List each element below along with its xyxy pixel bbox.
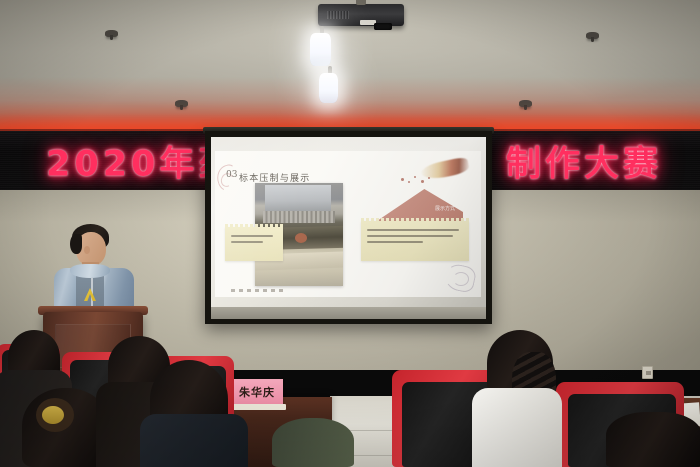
presentation-slide: 03 标本压制与展示 展示方式 [215, 151, 481, 297]
photo-window [265, 185, 331, 211]
audience-member [272, 418, 354, 467]
slide-note-right-text [367, 229, 463, 247]
hair-tie [42, 406, 64, 424]
projection-screen-surface: 03 标本压制与展示 展示方式 [211, 137, 486, 307]
decorative-swirl-icon [453, 272, 469, 286]
decorative-dots-icon [401, 175, 435, 185]
slide-note-right [361, 221, 469, 261]
wall-power-outlet [642, 366, 653, 379]
projection-screen-frame: 03 标本压制与展示 展示方式 [205, 131, 492, 324]
name-placard-base [228, 404, 286, 410]
name-placard: 朱华庆 [231, 379, 283, 405]
presenter-hair-side [70, 234, 82, 254]
sprinkler-icon [586, 32, 599, 39]
sprinkler-icon [175, 100, 188, 107]
slide-footer-marks [231, 289, 287, 292]
slide-note-left-text [231, 235, 277, 247]
ceiling-lamp [310, 33, 331, 66]
audience-member [606, 412, 700, 467]
led-banner-text-right: 制作大赛 [506, 135, 662, 186]
sprinkler-icon [519, 100, 532, 107]
presenter [46, 222, 142, 317]
presenter-hood [70, 264, 110, 278]
name-placard-text: 朱华庆 [239, 384, 275, 400]
audience-member-body [472, 388, 562, 467]
slide-section-number: 03 [226, 170, 237, 180]
photo-detail [295, 233, 307, 243]
slide-shape-label: 展示方式 [435, 205, 455, 212]
ceiling-projector [318, 4, 404, 26]
projector-vent [327, 11, 349, 19]
ceiling-lamp [319, 73, 338, 103]
sprinkler-icon [105, 30, 118, 37]
projector-lens-icon [374, 23, 392, 30]
presenter-ear [84, 246, 90, 254]
audience-member-body [140, 414, 248, 467]
lecture-hall-photo: 2020年药 制作大赛 03 标本压制与展示 [0, 0, 700, 467]
slide-note-left [225, 227, 283, 261]
photo-radiator [263, 211, 335, 223]
screen-lower-shadow [211, 307, 486, 319]
